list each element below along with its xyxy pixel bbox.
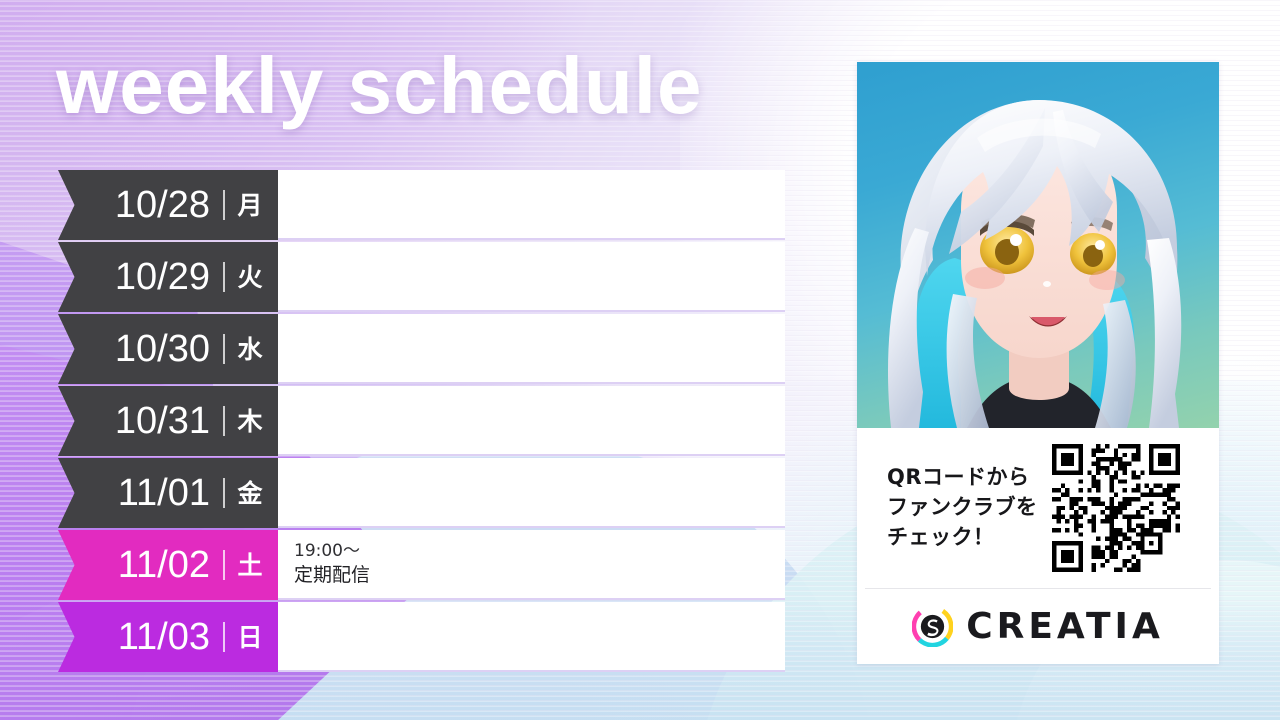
date-tab: 11/02土 <box>58 530 278 600</box>
date-tab: 10/29火 <box>58 242 278 312</box>
date-tab-shape: 11/01金 <box>58 458 278 528</box>
profile-card: QRコードから ファンクラブを チェック！ CREATIA <box>857 62 1219 664</box>
date-label: 11/03 <box>118 618 210 656</box>
date-tab-shape: 10/30水 <box>58 314 278 384</box>
date-tab: 11/01金 <box>58 458 278 528</box>
weekday-label: 水 <box>236 337 264 362</box>
weekday-label: 火 <box>236 265 264 290</box>
weekday-label: 木 <box>236 409 264 434</box>
schedule-entry <box>278 314 785 384</box>
qr-caption-line1: QRコードから <box>887 463 1038 493</box>
date-tab-shape: 10/31木 <box>58 386 278 456</box>
schedule-row: 11/03日 <box>58 602 785 674</box>
schedule-entry <box>278 170 785 240</box>
qr-caption: QRコードから ファンクラブを チェック！ <box>887 463 1038 552</box>
schedule-row: 10/28月 <box>58 170 785 242</box>
schedule-row: 11/01金 <box>58 458 785 530</box>
date-tab: 11/03日 <box>58 602 278 672</box>
date-tab: 10/30水 <box>58 314 278 384</box>
schedule-entry <box>278 386 785 456</box>
schedule-row: 10/29火 <box>58 242 785 314</box>
weekday-label: 金 <box>236 481 264 506</box>
schedule-entry <box>278 242 785 312</box>
date-tab-shape: 10/29火 <box>58 242 278 312</box>
date-tab-shape: 11/02土 <box>58 530 278 600</box>
date-label: 10/29 <box>115 258 210 296</box>
date-label: 11/01 <box>118 474 210 512</box>
brand-logo: CREATIA <box>857 589 1219 664</box>
qr-section: QRコードから ファンクラブを チェック！ <box>857 428 1219 588</box>
date-separator <box>223 190 225 220</box>
schedule-entry <box>278 458 785 528</box>
schedule-row: 10/31木 <box>58 386 785 458</box>
date-tab: 10/28月 <box>58 170 278 240</box>
creatia-mark-icon <box>912 606 953 647</box>
date-separator <box>223 478 225 508</box>
weekday-label: 土 <box>236 553 264 578</box>
avatar <box>857 62 1219 428</box>
date-separator <box>223 406 225 436</box>
schedule-row: 11/02土19:00〜定期配信 <box>58 530 785 602</box>
date-tab-shape: 11/03日 <box>58 602 278 672</box>
schedule-entry: 19:00〜定期配信 <box>278 530 785 600</box>
date-label: 10/31 <box>115 402 210 440</box>
entry-time: 19:00〜 <box>294 540 769 563</box>
date-separator <box>223 622 225 652</box>
weekday-label: 月 <box>236 193 264 218</box>
date-tab: 10/31木 <box>58 386 278 456</box>
page-title: weekly schedule <box>56 46 702 126</box>
schedule-row: 10/30水 <box>58 314 785 386</box>
entry-title: 定期配信 <box>294 563 769 589</box>
date-label: 10/30 <box>115 330 210 368</box>
date-label: 10/28 <box>115 186 210 224</box>
weekly-schedule-table: 10/28月10/29火10/30水10/31木11/01金11/02土19:0… <box>58 170 785 674</box>
date-separator <box>223 550 225 580</box>
brand-name: CREATIA <box>966 606 1164 647</box>
schedule-entry <box>278 602 785 672</box>
date-separator <box>223 262 225 292</box>
date-label: 11/02 <box>118 546 210 584</box>
date-separator <box>223 334 225 364</box>
qr-caption-line2: ファンクラブを <box>887 493 1038 523</box>
qr-code[interactable] <box>1052 444 1180 572</box>
qr-caption-line3: チェック！ <box>887 523 1038 553</box>
avatar-illustration <box>857 62 1219 428</box>
date-tab-shape: 10/28月 <box>58 170 278 240</box>
weekday-label: 日 <box>236 625 264 650</box>
